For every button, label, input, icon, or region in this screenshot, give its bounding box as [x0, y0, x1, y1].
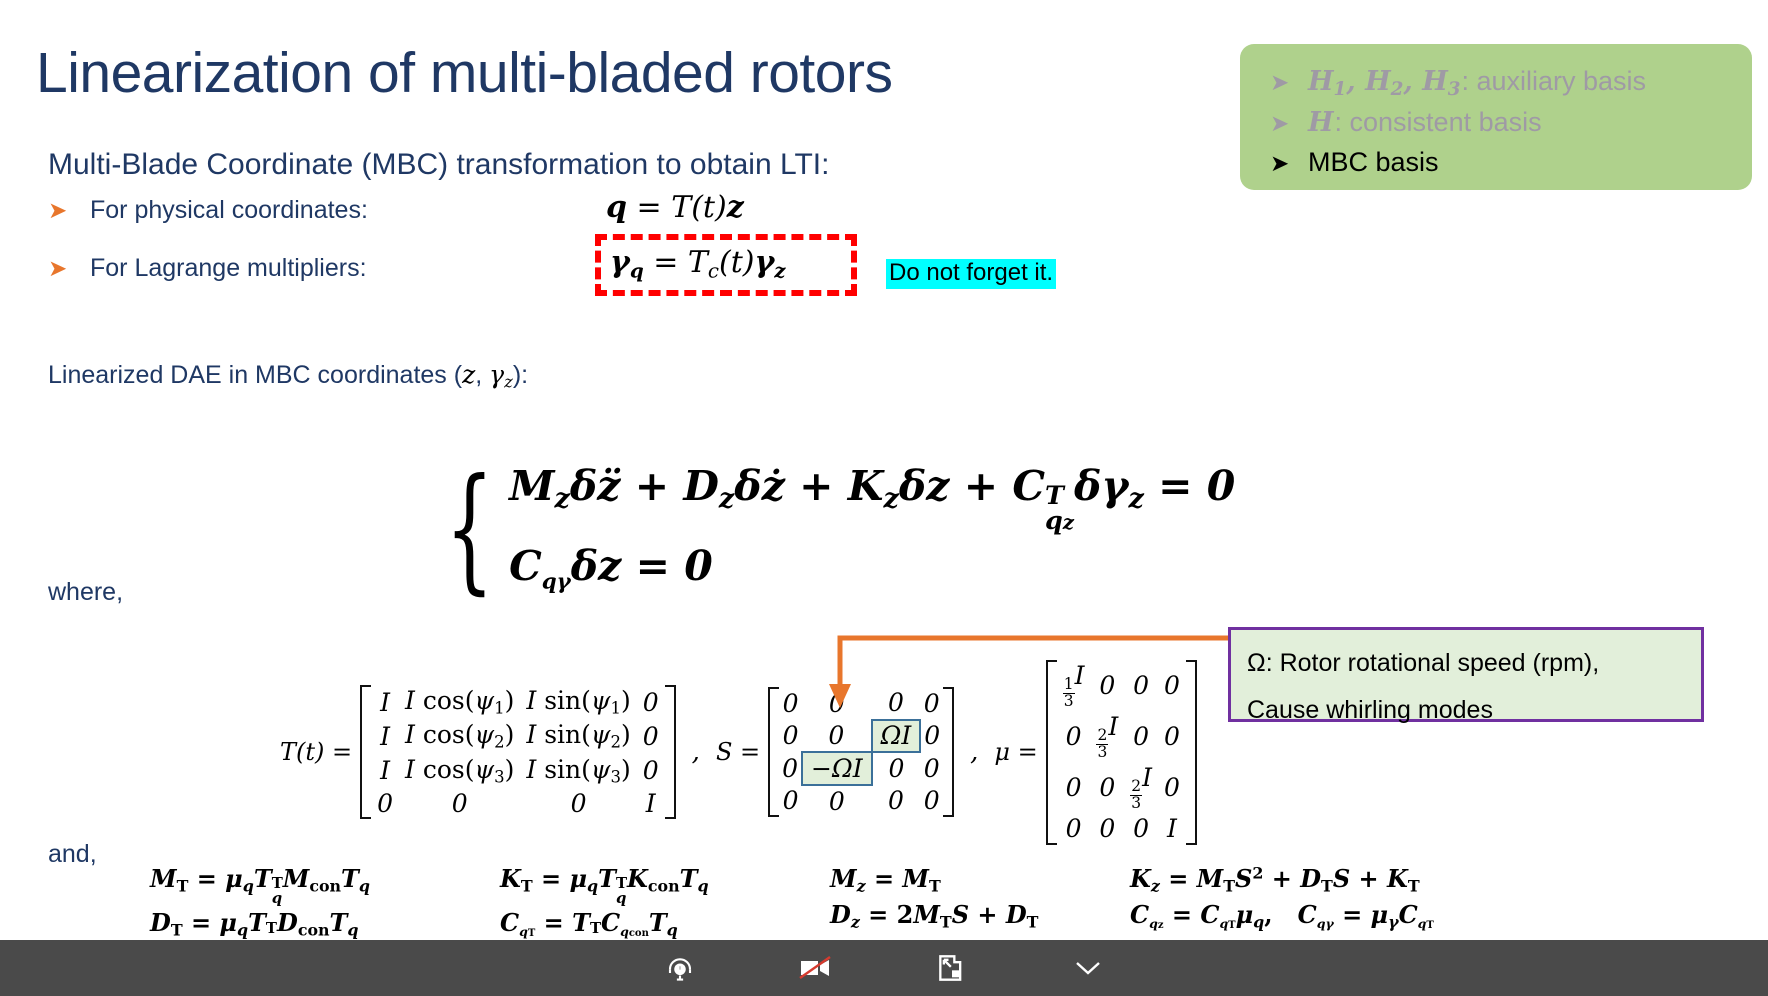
meeting-toolbar: [0, 940, 1768, 996]
bullet-label: For physical coordinates:: [90, 196, 368, 225]
slide-subtitle: Multi-Blade Coordinate (MBC) transformat…: [48, 148, 829, 182]
bottom-eq-col-3: Mz = MT Dz = 2MTS + DT: [830, 862, 1130, 950]
matrix-label-T: T(t) =: [280, 738, 352, 766]
dae-system-equations: { Mzδz̈ + Dzδż + Kzδz + CTqzδγz = 0 Cqγ…: [432, 462, 1235, 594]
basis-symbol-auxiliary: H1, H2, H3: [1308, 63, 1460, 103]
dae-equation-line-2: Cqγδz = 0: [509, 542, 1235, 595]
chevron-down-icon[interactable]: [1061, 948, 1115, 988]
basis-summary-box: ➤ H1, H2, H3 : auxiliary basis ➤ H : con…: [1240, 44, 1752, 190]
arrow-bullet-icon: ➤: [1270, 147, 1308, 180]
separator-comma: ,: [692, 737, 700, 767]
bottom-equations-grid: MT = μqTTqMconTq DT = μqTTqDconTq KT = μ…: [150, 862, 1740, 950]
dae-equation-line-1: Mzδz̈ + Dzδż + Kzδz + CTqzδγz = 0: [509, 462, 1235, 534]
bullet-physical-coordinates: ➤ For physical coordinates:: [48, 196, 368, 225]
basis-item-auxiliary: ➤ H1, H2, H3 : auxiliary basis: [1270, 62, 1752, 103]
equation-Kz: Kz = MTS2 + DTS + KT: [1130, 862, 1740, 898]
arrow-bullet-icon: ➤: [48, 197, 90, 224]
basis-item-mbc: ➤ MBC basis: [1270, 143, 1752, 181]
equation-Mz: Mz = MT: [830, 862, 1130, 898]
bottom-eq-col-1: MT = μqTTqMconTq DT = μqTTqDconTq: [150, 862, 500, 950]
highlighted-cell-negative-omega: −ΩI: [802, 752, 872, 785]
bottom-eq-col-4: Kz = MTS2 + DTS + KT Cqz = CqTμq, Cqγ = …: [1130, 862, 1740, 950]
basis-label-auxiliary: : auxiliary basis: [1461, 62, 1646, 100]
bracket-left: [360, 685, 371, 819]
slide-canvas: Linearization of multi-bladed rotors Mul…: [0, 0, 1768, 940]
table-row: 000I: [371, 788, 665, 820]
equation-physical-coordinates: q = T(t)z: [606, 190, 744, 225]
microphone-headset-icon[interactable]: [653, 948, 707, 988]
table-row: 00ΩI0: [779, 720, 943, 753]
table-row: 000I: [1057, 813, 1186, 845]
where-label: where,: [48, 578, 123, 607]
basis-label-consistent: : consistent basis: [1335, 103, 1542, 141]
bracket-right: [665, 685, 676, 819]
cyan-highlight-note: Do not forget it.: [886, 259, 1056, 289]
orange-connector-arrow: [820, 620, 1250, 720]
callout-line-1: Ω: Rotor rotational speed (rpm),: [1247, 640, 1701, 687]
table-row: 0023I0: [1057, 762, 1186, 813]
separator-comma: ,: [970, 737, 978, 767]
bracket-left: [768, 687, 779, 817]
equation-KT: KT = μqTTqKconTq: [500, 862, 830, 906]
table-row: II cos(ψ1)I sin(ψ1)0: [371, 685, 665, 719]
omega-callout-box: Ω: Rotor rotational speed (rpm), Cause w…: [1228, 627, 1704, 722]
curly-brace-icon: {: [445, 475, 494, 581]
bottom-eq-col-2: KT = μqTTqKconTq CqT = TTγCqconTq: [500, 862, 830, 950]
table-row: II cos(ψ3)I sin(ψ3)0: [371, 754, 665, 788]
dae-intro-label: Linearized DAE in MBC coordinates (z, γz…: [48, 360, 528, 392]
equation-Cqz: Cqz = CqTμq, Cqγ = μγCqT: [1130, 898, 1740, 934]
and-label: and,: [48, 840, 97, 869]
arrow-bullet-icon: ➤: [48, 255, 90, 282]
page-title: Linearization of multi-bladed rotors: [36, 40, 892, 106]
equation-Dz: Dz = 2MTS + DT: [830, 898, 1130, 934]
bullet-label: For Lagrange multipliers:: [90, 254, 367, 283]
matrix-T: II cos(ψ1)I sin(ψ1)0 II cos(ψ2)I sin(ψ2)…: [360, 685, 676, 819]
basis-item-consistent: ➤ H : consistent basis: [1270, 103, 1752, 142]
table-row: 0−ΩI00: [779, 752, 943, 785]
callout-line-2: Cause whirling modes: [1247, 687, 1701, 734]
equation-MT: MT = μqTTqMconTq: [150, 862, 500, 906]
basis-symbol-consistent: H: [1308, 104, 1334, 142]
matrix-label-mu: μ =: [994, 738, 1037, 766]
table-row: 0000: [779, 785, 943, 818]
arrow-bullet-icon: ➤: [1270, 107, 1308, 140]
table-row: II cos(ψ2)I sin(ψ2)0: [371, 719, 665, 753]
basis-label-mbc: MBC basis: [1308, 143, 1439, 181]
bullet-lagrange-multipliers: ➤ For Lagrange multipliers:: [48, 254, 367, 283]
highlighted-cell-omega: ΩI: [872, 720, 921, 753]
video-off-icon[interactable]: [789, 948, 843, 988]
screen-share-icon[interactable]: [925, 948, 979, 988]
equation-lagrange-multipliers: γq = Tc(t)γz: [610, 245, 786, 283]
matrix-label-S: S =: [716, 738, 760, 766]
arrow-bullet-icon: ➤: [1270, 66, 1308, 99]
